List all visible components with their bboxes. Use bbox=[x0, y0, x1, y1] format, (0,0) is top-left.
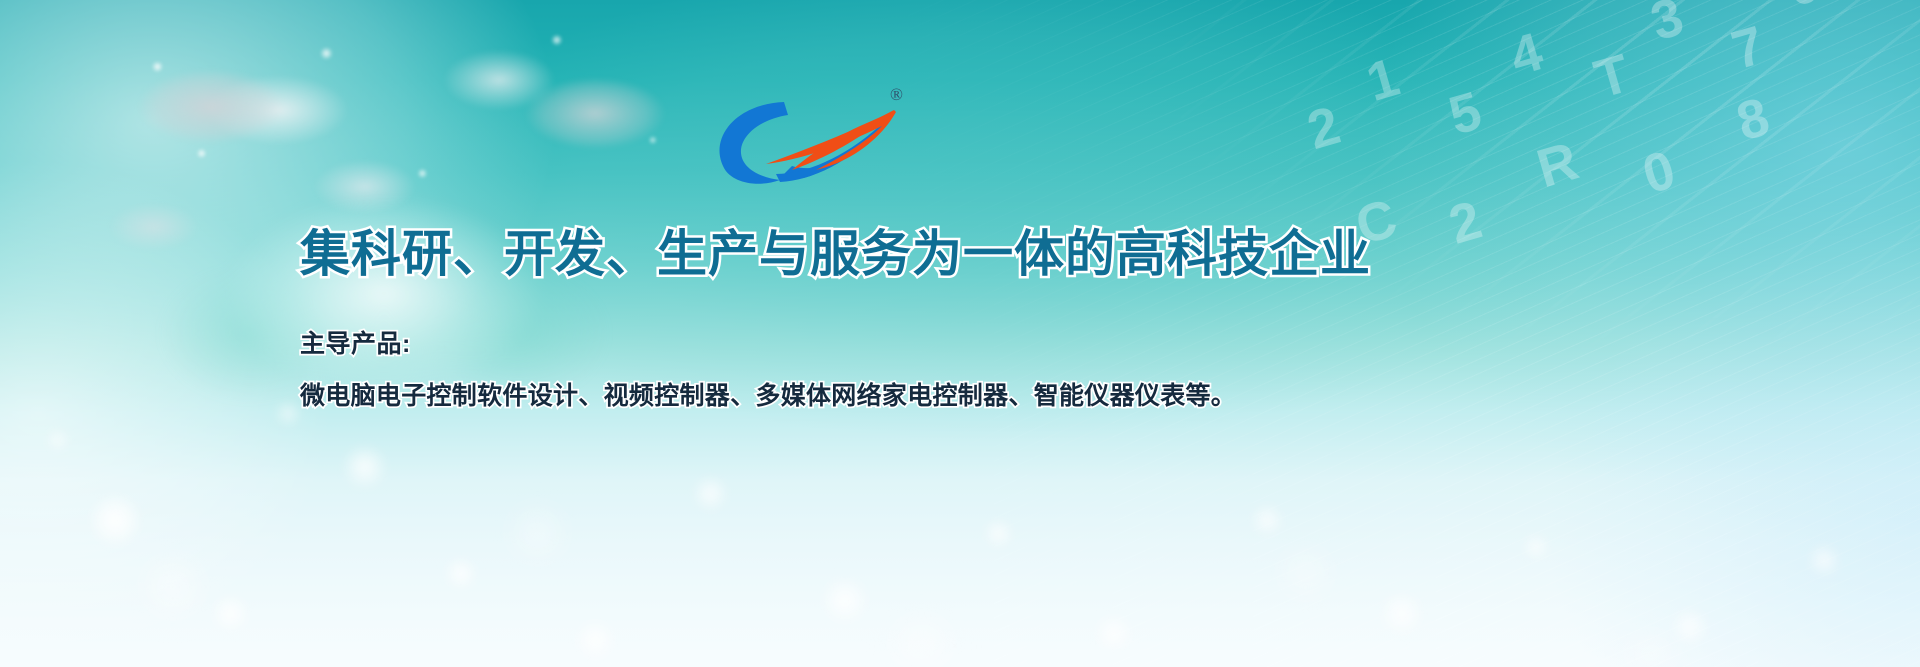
hero-banner: 2 1 5 4 T 3 7 0 C 2 R 0 8 ® 集 bbox=[0, 0, 1920, 667]
registered-trademark-icon: ® bbox=[890, 86, 903, 103]
svg-text:5: 5 bbox=[1443, 81, 1488, 147]
svg-text:0: 0 bbox=[1636, 139, 1681, 205]
svg-text:8: 8 bbox=[1730, 86, 1775, 152]
main-products-label: 主导产品: bbox=[300, 281, 1620, 359]
banner-headline: 集科研、开发、生产与服务为一体的高科技企业 bbox=[300, 228, 1620, 281]
svg-text:0: 0 bbox=[1780, 0, 1825, 18]
company-logo: ® bbox=[680, 82, 920, 192]
banner-copy: 集科研、开发、生产与服务为一体的高科技企业 主导产品: 微电脑电子控制软件设计、… bbox=[300, 228, 1620, 412]
svg-text:2: 2 bbox=[1301, 95, 1346, 161]
svg-text:R: R bbox=[1531, 131, 1585, 199]
background-silkscreen-numerals: 2 1 5 4 T 3 7 0 C 2 R 0 8 bbox=[1280, 0, 1920, 260]
swoosh-logo-icon bbox=[680, 82, 920, 192]
main-products-list: 微电脑电子控制软件设计、视频控制器、多媒体网络家电控制器、智能仪器仪表等。 bbox=[300, 359, 1620, 412]
svg-text:1: 1 bbox=[1360, 47, 1405, 113]
svg-text:3: 3 bbox=[1644, 0, 1689, 52]
svg-text:T: T bbox=[1588, 43, 1636, 110]
svg-text:4: 4 bbox=[1504, 21, 1549, 87]
svg-text:7: 7 bbox=[1725, 15, 1770, 81]
